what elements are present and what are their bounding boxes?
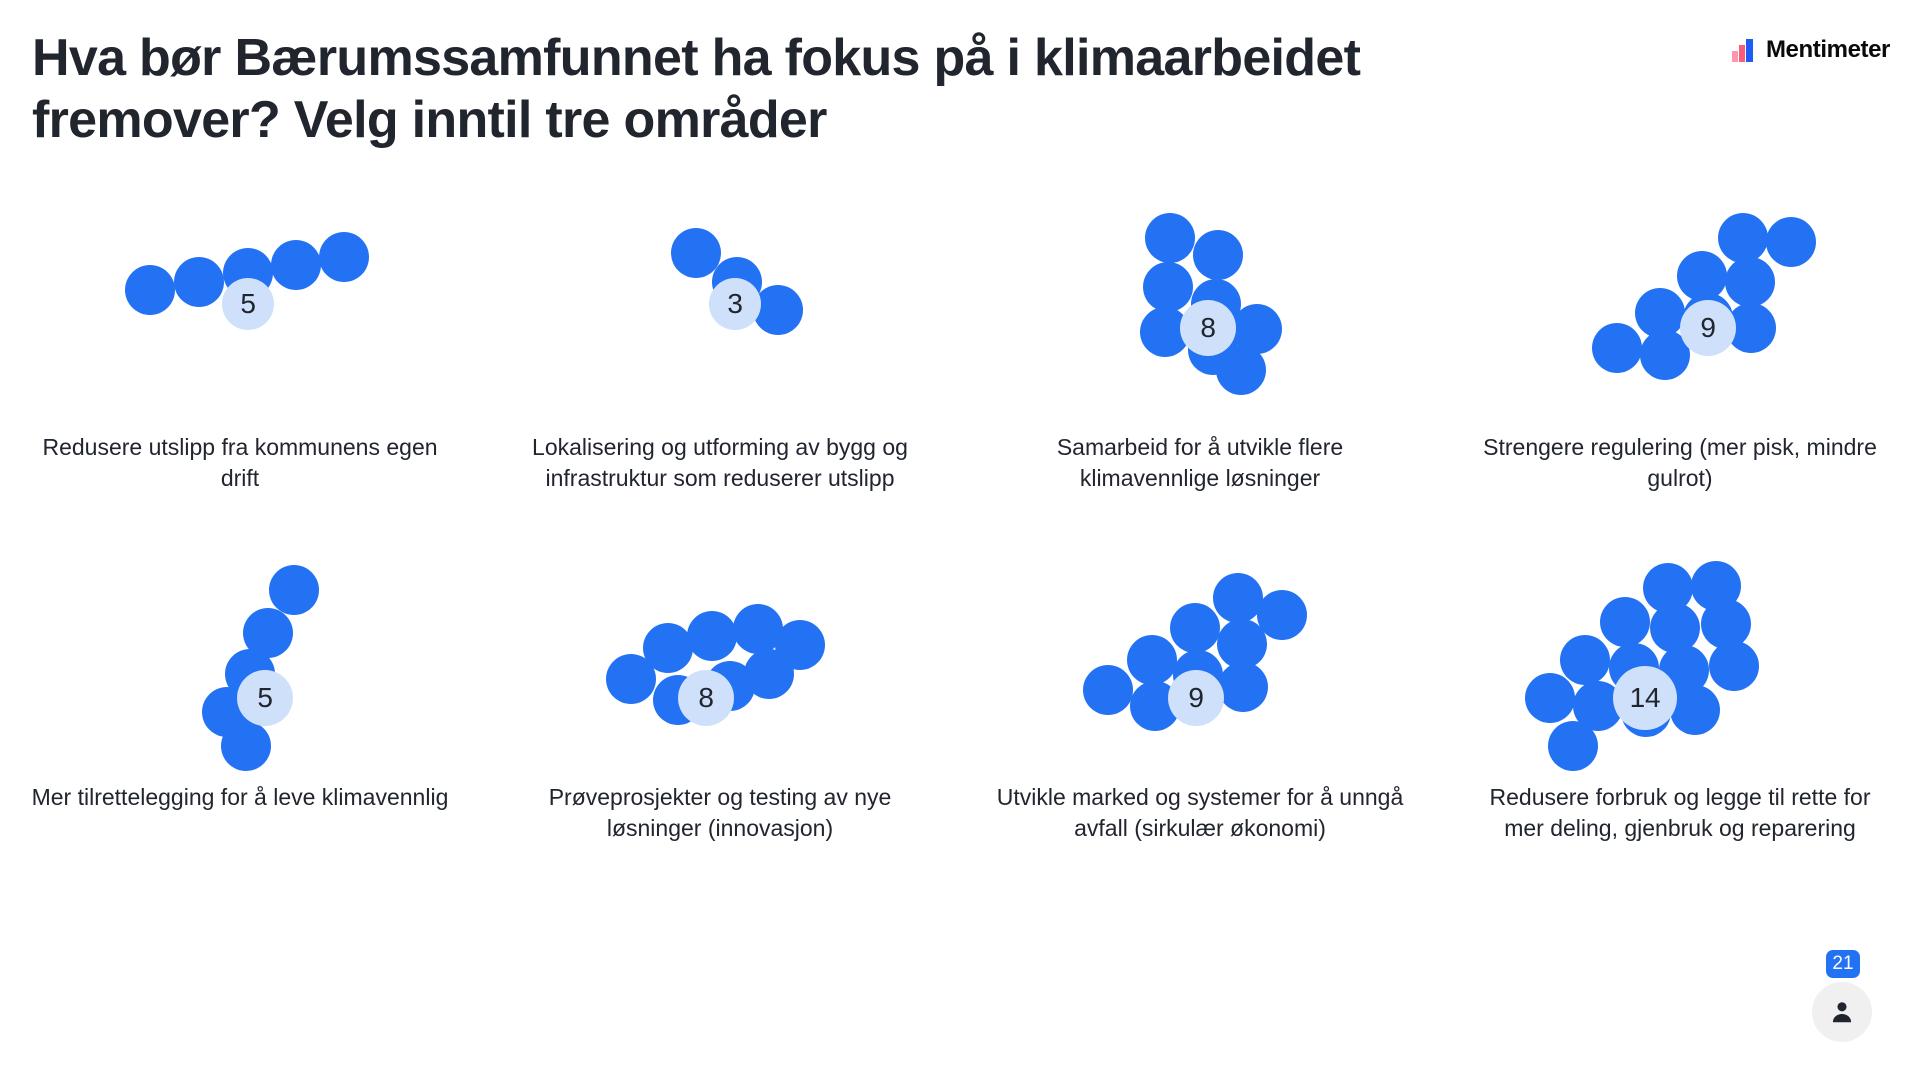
answer-option-label: Utvikle marked og systemer for å unngå a… xyxy=(970,782,1430,844)
participant-count-badge: 21 xyxy=(1826,950,1860,978)
vote-count-badge: 5 xyxy=(222,278,274,330)
answer-option-label: Samarbeid for å utvikle flere klimavennl… xyxy=(970,432,1430,494)
vote-bubble xyxy=(1525,673,1575,723)
answer-option: 3Lokalisering og utforming av bygg og in… xyxy=(480,200,960,550)
answer-option-label: Strengere regulering (mer pisk, mindre g… xyxy=(1450,432,1910,494)
vote-bubble-cluster: 8 xyxy=(480,550,960,782)
vote-bubble xyxy=(1670,685,1720,735)
vote-bubble-cluster: 9 xyxy=(960,550,1440,782)
vote-bubble xyxy=(1600,597,1650,647)
vote-bubble xyxy=(744,649,794,699)
vote-count-badge: 9 xyxy=(1680,300,1736,356)
vote-bubble xyxy=(1127,635,1177,685)
vote-bubble-cluster: 5 xyxy=(0,550,480,782)
vote-bubble xyxy=(1170,603,1220,653)
results-row: 5Redusere utslipp fra kommunens egen dri… xyxy=(0,200,1920,550)
results-row: 5Mer tilrettelegging for å leve klimaven… xyxy=(0,550,1920,900)
participant-avatar-circle xyxy=(1812,982,1872,1042)
vote-bubble xyxy=(1213,573,1263,623)
vote-bubble xyxy=(1143,262,1193,312)
vote-count-badge: 8 xyxy=(678,670,734,726)
vote-bubble-cluster: 3 xyxy=(480,200,960,432)
answer-option: 9Utvikle marked og systemer for å unngå … xyxy=(960,550,1440,900)
answer-option-label: Redusere utslipp fra kommunens egen drif… xyxy=(10,432,470,494)
answer-option-label: Mer tilrettelegging for å leve klimavenn… xyxy=(10,782,470,813)
results-grid: 5Redusere utslipp fra kommunens egen dri… xyxy=(0,200,1920,900)
answer-option: 9Strengere regulering (mer pisk, mindre … xyxy=(1440,200,1920,550)
vote-bubble-cluster: 8 xyxy=(960,200,1440,432)
mentimeter-results-slide: Hva bør Bærumssamfunnet ha fokus på i kl… xyxy=(0,0,1920,1080)
answer-option-label: Prøveprosjekter og testing av nye løsnin… xyxy=(490,782,950,844)
vote-bubble xyxy=(687,611,737,661)
vote-bubble xyxy=(319,232,369,282)
vote-count-badge: 3 xyxy=(709,278,761,330)
brand-name: Mentimeter xyxy=(1766,36,1890,64)
vote-bubble xyxy=(1548,721,1598,771)
vote-bubble xyxy=(1218,662,1268,712)
vote-bubble xyxy=(1725,257,1775,307)
vote-bubble xyxy=(1083,665,1133,715)
vote-bubble xyxy=(1592,323,1642,373)
vote-bubble xyxy=(1560,635,1610,685)
page-title: Hva bør Bærumssamfunnet ha fokus på i kl… xyxy=(32,28,1652,152)
vote-bubble xyxy=(125,265,175,315)
mentimeter-bars-logo-icon xyxy=(1731,37,1757,63)
vote-bubble-cluster: 9 xyxy=(1440,200,1920,432)
answer-option: 5Redusere utslipp fra kommunens egen dri… xyxy=(0,200,480,550)
vote-bubble xyxy=(1709,641,1759,691)
participant-counter[interactable]: 21 xyxy=(1812,950,1876,1042)
answer-option-label: Redusere forbruk og legge til rette for … xyxy=(1450,782,1910,844)
person-icon xyxy=(1829,999,1855,1025)
vote-count-badge: 14 xyxy=(1613,666,1677,730)
answer-option: 14Redusere forbruk og legge til rette fo… xyxy=(1440,550,1920,900)
answer-option: 8Prøveprosjekter og testing av nye løsni… xyxy=(480,550,960,900)
vote-bubble xyxy=(269,565,319,615)
vote-count-badge: 8 xyxy=(1180,300,1236,356)
vote-count-badge: 9 xyxy=(1168,670,1224,726)
vote-bubble xyxy=(1718,213,1768,263)
answer-option: 5Mer tilrettelegging for å leve klimaven… xyxy=(0,550,480,900)
mentimeter-logo: Mentimeter xyxy=(1731,36,1890,64)
vote-bubble-cluster: 5 xyxy=(0,200,480,432)
vote-bubble xyxy=(1766,217,1816,267)
vote-bubble xyxy=(221,721,271,771)
answer-option: 8Samarbeid for å utvikle flere klimavenn… xyxy=(960,200,1440,550)
answer-option-label: Lokalisering og utforming av bygg og inf… xyxy=(490,432,950,494)
vote-bubble-cluster: 14 xyxy=(1440,550,1920,782)
vote-bubble xyxy=(271,240,321,290)
vote-bubble xyxy=(1193,230,1243,280)
vote-count-badge: 5 xyxy=(237,670,293,726)
vote-bubble xyxy=(1216,345,1266,395)
vote-bubble xyxy=(753,285,803,335)
vote-bubble xyxy=(643,623,693,673)
vote-bubble xyxy=(174,257,224,307)
vote-bubble xyxy=(1145,213,1195,263)
